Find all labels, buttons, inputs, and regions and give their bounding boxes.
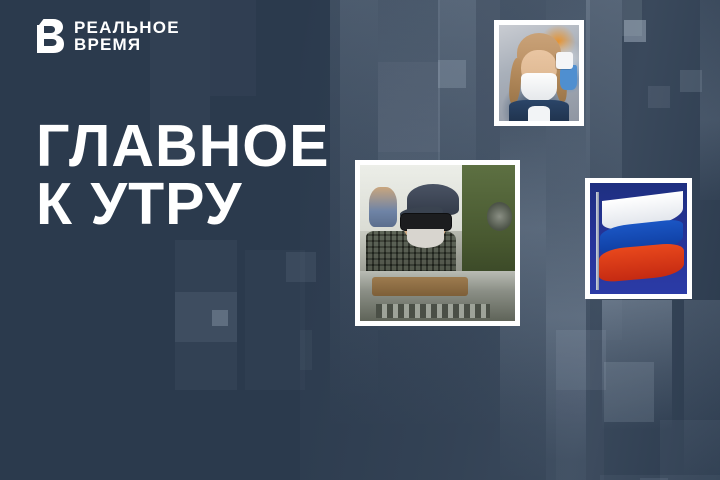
photo-detail bbox=[372, 277, 468, 296]
bg-bar bbox=[378, 62, 440, 152]
bg-bar bbox=[700, 0, 720, 200]
bg-bar bbox=[556, 330, 606, 390]
photo-detail bbox=[407, 229, 444, 248]
bg-bar bbox=[300, 330, 312, 370]
page-title: ГЛАВНОЕ К УТРУ bbox=[36, 118, 329, 234]
bg-bar bbox=[660, 420, 720, 480]
photo-detail bbox=[369, 187, 397, 228]
page-title-line1: ГЛАВНОЕ bbox=[36, 118, 329, 176]
photo-detail bbox=[596, 192, 599, 290]
photo-flag-image bbox=[590, 183, 687, 294]
photo-detail bbox=[528, 106, 550, 121]
photo-detail bbox=[556, 52, 574, 69]
brand-logo-text: РЕАЛЬНОЕ ВРЕМЯ bbox=[74, 19, 180, 53]
bg-bar bbox=[680, 70, 702, 92]
photo-worker-image bbox=[360, 165, 515, 321]
photo-worker-lathe bbox=[355, 160, 520, 326]
brand-logo-line1: РЕАЛЬНОЕ bbox=[74, 19, 180, 36]
flag-b-mark-icon bbox=[35, 17, 65, 55]
brand-logo-line2: ВРЕМЯ bbox=[74, 36, 180, 53]
page-title-line2: К УТРУ bbox=[36, 176, 329, 234]
bg-bar bbox=[286, 252, 316, 282]
bg-bar bbox=[604, 362, 654, 422]
bg-bar bbox=[438, 60, 466, 88]
photo-detail bbox=[560, 65, 578, 90]
photo-mask-temperature-check bbox=[494, 20, 584, 126]
bg-bar bbox=[212, 310, 228, 326]
photo-detail bbox=[376, 304, 491, 318]
bg-bar bbox=[210, 0, 256, 96]
photo-detail bbox=[521, 73, 558, 102]
photo-detail bbox=[487, 202, 512, 230]
photo-mask-image bbox=[499, 25, 579, 121]
bg-bar bbox=[556, 390, 604, 480]
photo-russian-flag bbox=[585, 178, 692, 299]
news-cover-card: РЕАЛЬНОЕ ВРЕМЯ ГЛАВНОЕ К УТРУ bbox=[0, 0, 720, 480]
bg-bar bbox=[648, 86, 670, 108]
brand-logo[interactable]: РЕАЛЬНОЕ ВРЕМЯ bbox=[35, 17, 180, 55]
bg-bar bbox=[624, 20, 646, 42]
